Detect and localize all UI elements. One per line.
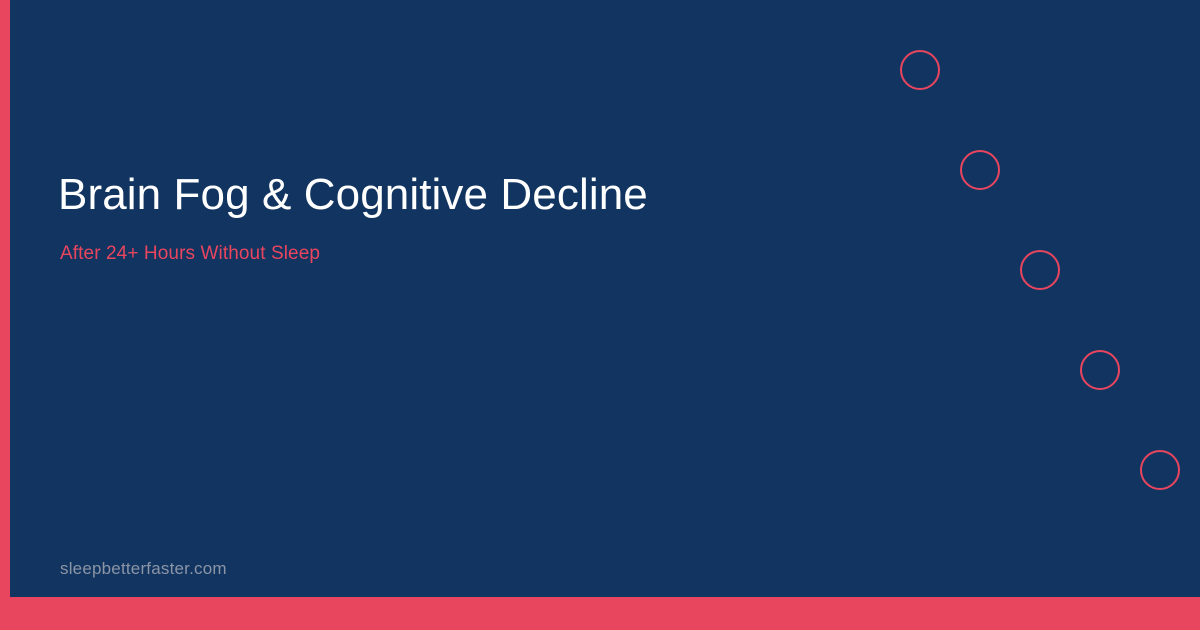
decor-circle-1-icon <box>900 50 940 90</box>
decor-circle-2-icon <box>960 150 1000 190</box>
left-accent-bar <box>0 0 10 630</box>
page-subtitle: After 24+ Hours Without Sleep <box>60 242 320 267</box>
decor-circle-5-icon <box>1140 450 1180 490</box>
social-share-card: Brain Fog & Cognitive Decline After 24+ … <box>0 0 1200 630</box>
card-content: Brain Fog & Cognitive Decline After 24+ … <box>58 0 818 630</box>
site-url-label: sleepbetterfaster.com <box>60 559 227 579</box>
decor-circle-3-icon <box>1020 250 1060 290</box>
decor-circle-4-icon <box>1080 350 1120 390</box>
bottom-accent-bar <box>0 597 1200 630</box>
page-title: Brain Fog & Cognitive Decline <box>58 170 648 219</box>
